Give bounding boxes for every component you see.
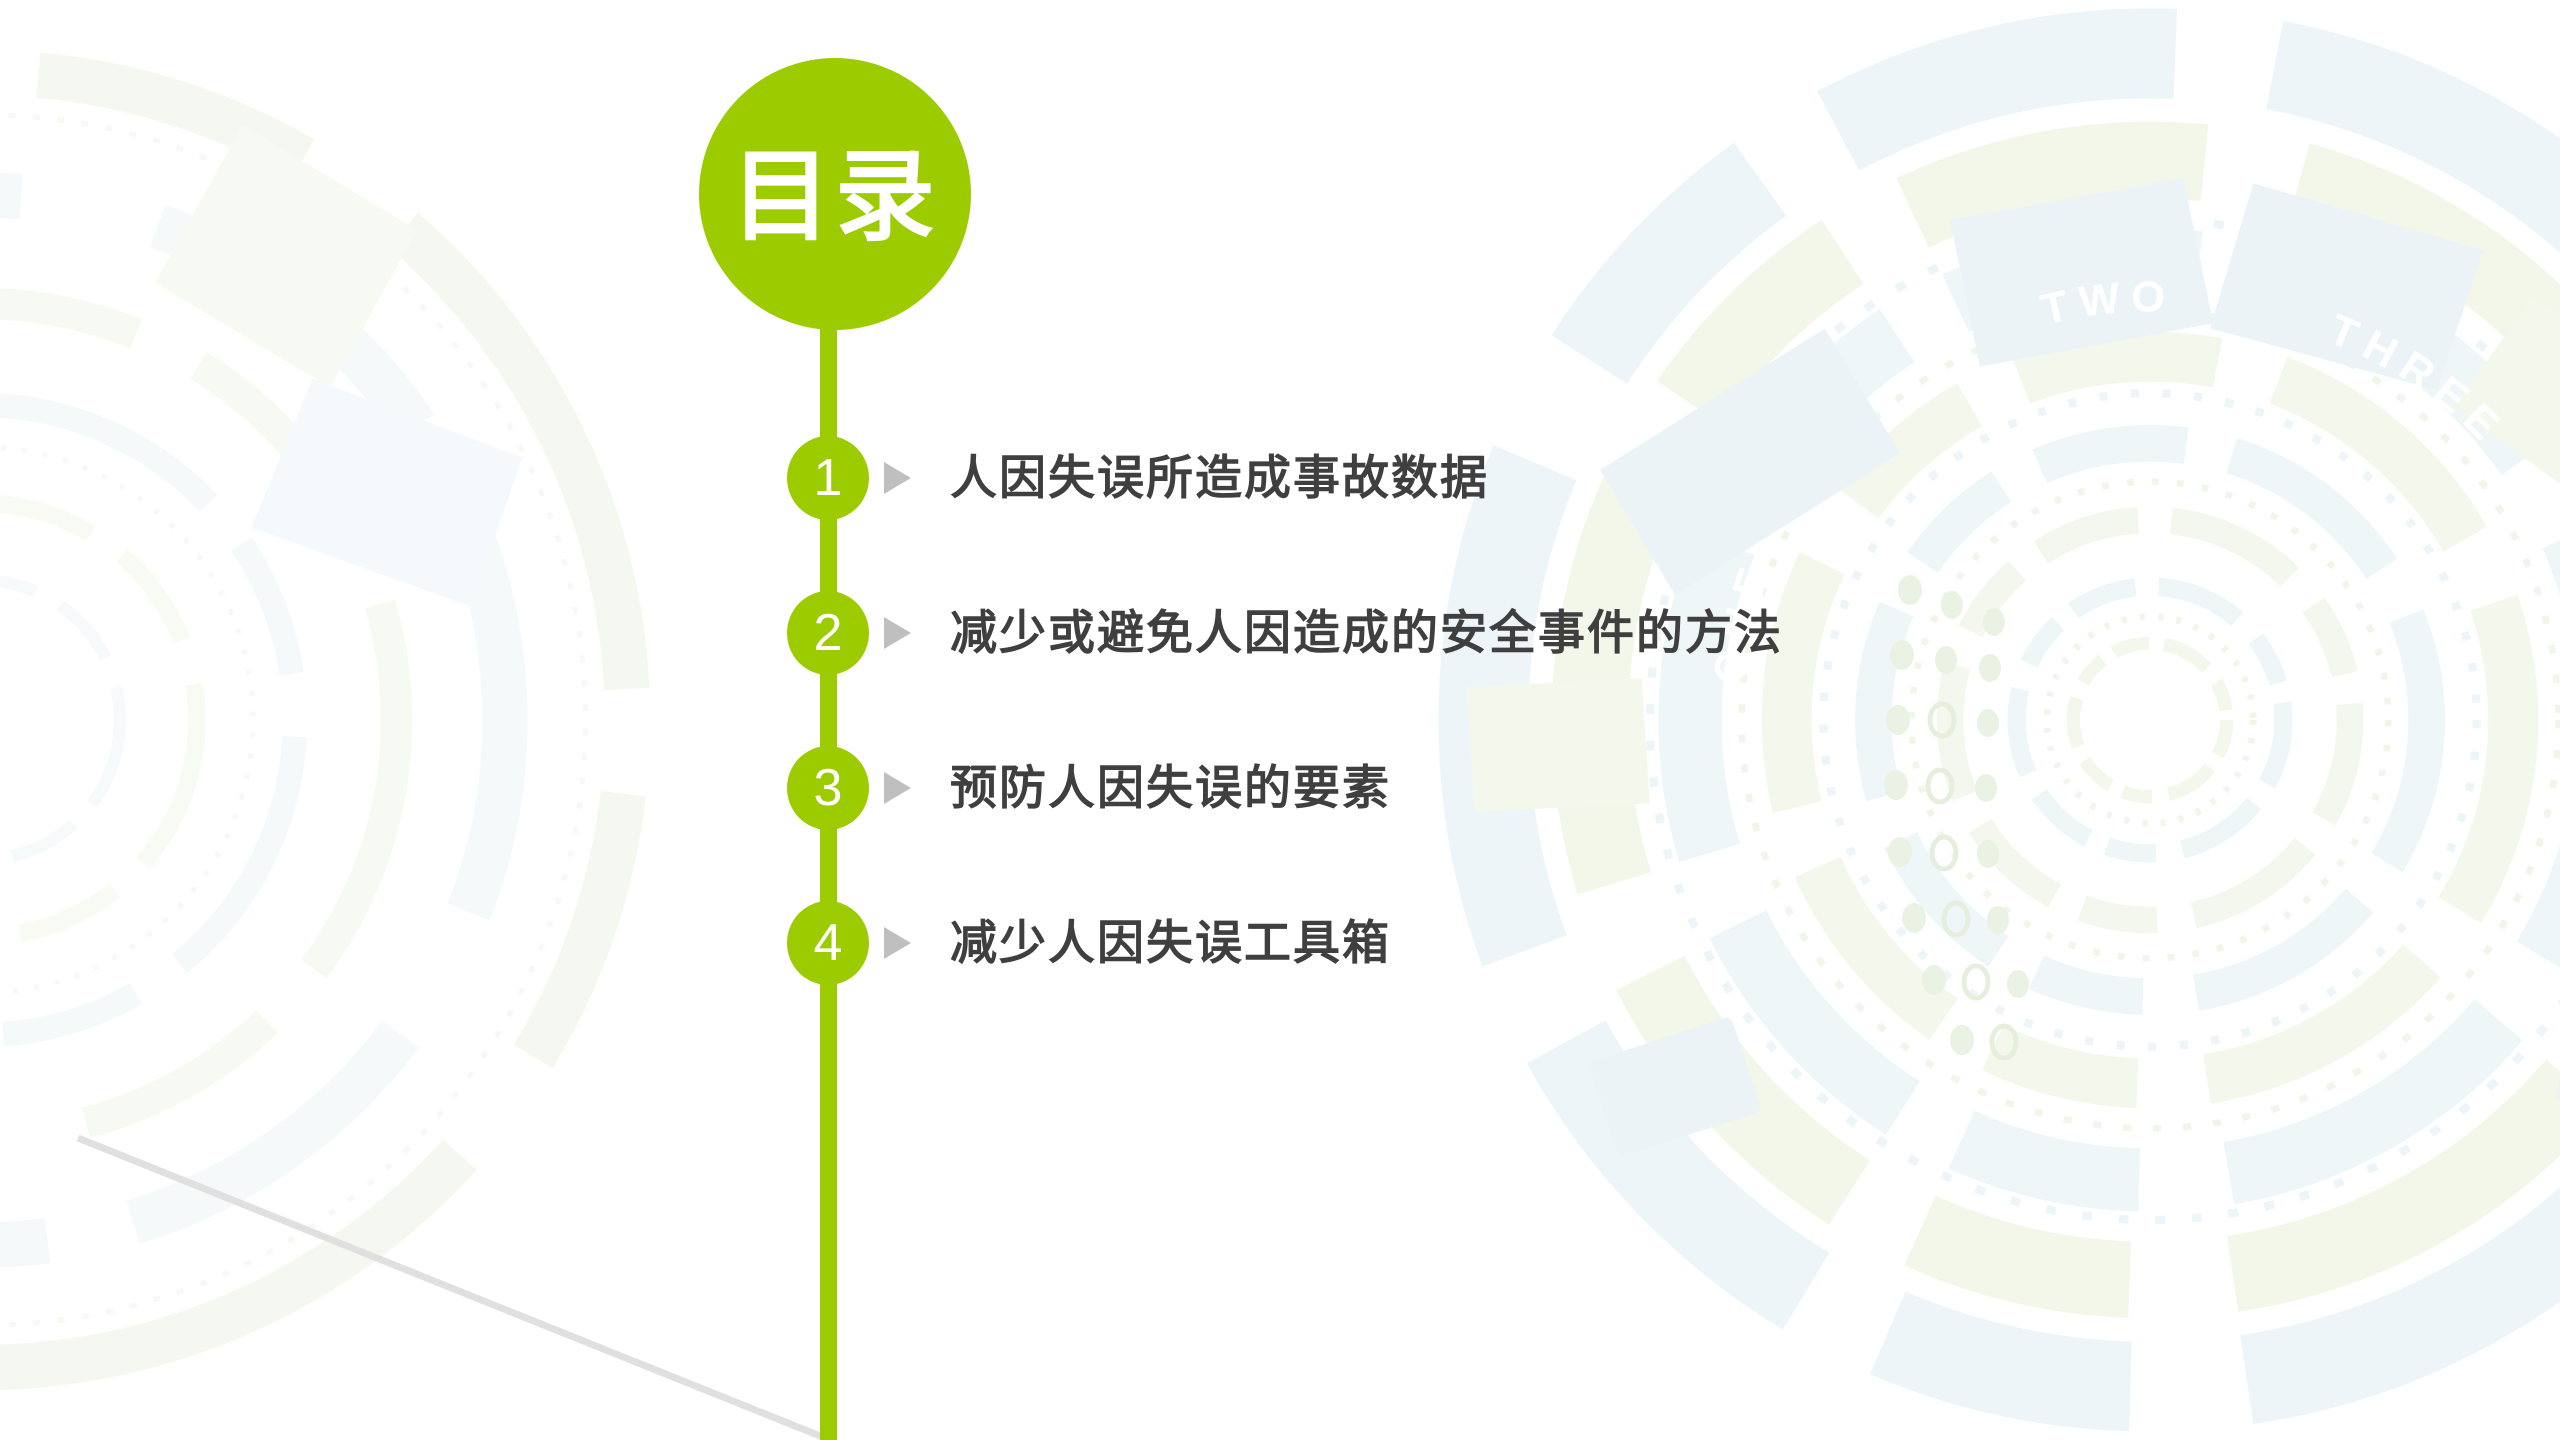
- triangle-right-icon: [884, 927, 911, 959]
- slide-canvas: ONE TWO THREE: [0, 0, 2560, 1440]
- triangle-right-icon: [884, 772, 911, 804]
- toc-item-2[interactable]: 2 减少或避免人因造成的安全事件的方法: [0, 585, 2560, 681]
- toc-number-badge: 4: [787, 901, 869, 985]
- page-title: 目录: [731, 147, 939, 247]
- triangle-right-icon: [884, 462, 911, 494]
- toc-title-circle: 目录: [699, 58, 971, 330]
- toc-item-label[interactable]: 人因失误所造成事故数据: [950, 452, 1489, 504]
- toc-item-label[interactable]: 预防人因失误的要素: [950, 762, 1391, 814]
- toc-item-4[interactable]: 4 减少人因失误工具箱: [0, 895, 2560, 991]
- hud-circle-right-icon: ONE TWO THREE: [1400, 0, 2560, 1440]
- toc-item-label[interactable]: 减少或避免人因造成的安全事件的方法: [950, 607, 1783, 659]
- toc-number-badge: 2: [787, 591, 869, 675]
- background-decoration-layer: ONE TWO THREE: [0, 0, 2560, 1440]
- triangle-right-icon: [884, 617, 911, 649]
- arc-label-two: TWO: [2037, 273, 2175, 334]
- toc-item-1[interactable]: 1 人因失误所造成事故数据: [0, 430, 2560, 526]
- toc-item-3[interactable]: 3 预防人因失误的要素: [0, 740, 2560, 836]
- toc-item-label[interactable]: 减少人因失误工具箱: [950, 917, 1391, 969]
- diagonal-accent-line: [0, 1100, 900, 1440]
- hud-circle-left-icon: [0, 20, 680, 1420]
- toc-number-badge: 3: [787, 746, 869, 830]
- toc-number-badge: 1: [787, 436, 869, 520]
